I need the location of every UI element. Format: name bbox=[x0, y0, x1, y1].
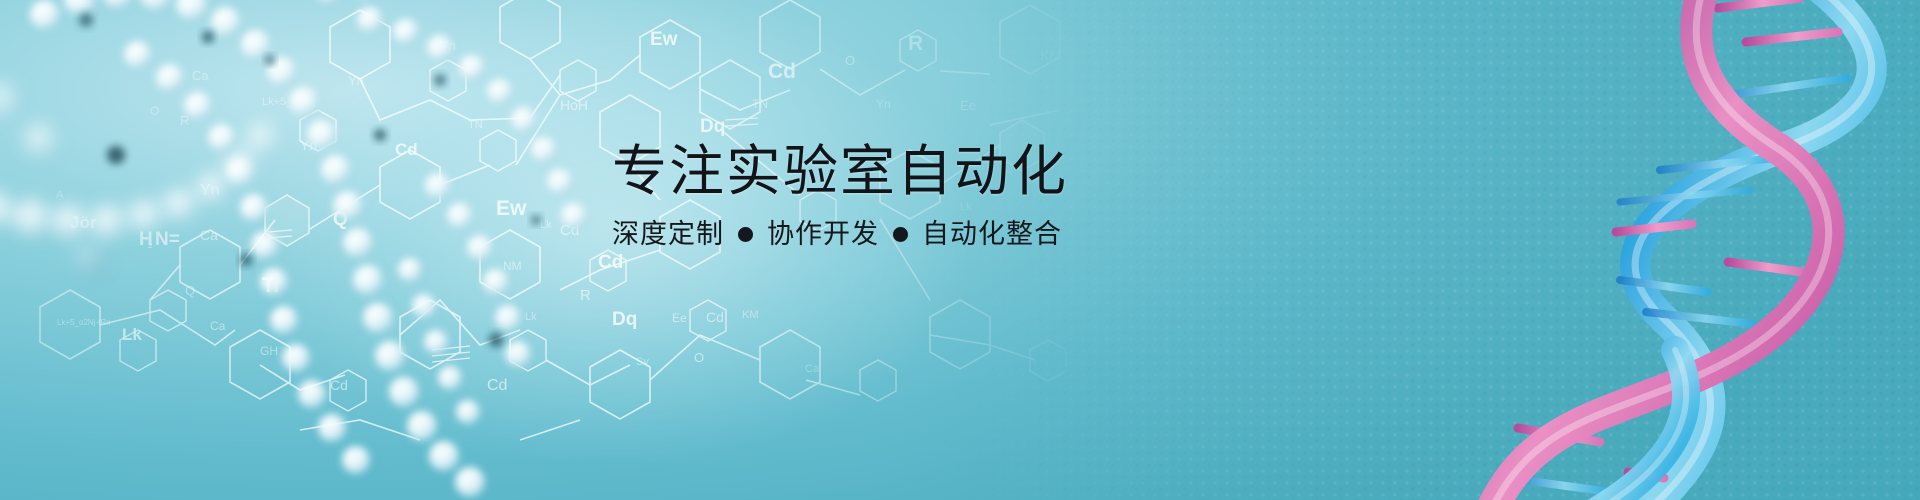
subtitle-item-2: 协作开发 bbox=[767, 218, 879, 250]
svg-text:Ca: Ca bbox=[805, 363, 820, 375]
svg-text:O: O bbox=[845, 53, 855, 68]
svg-text:R: R bbox=[908, 32, 923, 55]
bullet-separator-icon bbox=[893, 227, 908, 242]
svg-text:Yn: Yn bbox=[876, 97, 891, 111]
hero-banner: Ca Tr Jör H ₂ N= Lk+5_o2Nj-tRn Lk Ca Ca … bbox=[0, 0, 1920, 500]
bullet-separator-icon bbox=[738, 227, 753, 242]
pearlescent-dna-strand bbox=[0, 0, 700, 500]
svg-text:Ee: Ee bbox=[960, 98, 976, 113]
svg-text:Dq: Dq bbox=[700, 116, 725, 137]
hero-subtitle: 深度定制 协作开发 自动化整合 bbox=[612, 218, 1312, 250]
subtitle-item-3: 自动化整合 bbox=[922, 218, 1062, 250]
subtitle-item-1: 深度定制 bbox=[612, 218, 724, 250]
dna-double-helix bbox=[1460, 0, 1920, 500]
svg-text:KM: KM bbox=[1040, 47, 1061, 63]
svg-text:TN: TN bbox=[752, 97, 768, 111]
hero-text-block: 专注实验室自动化 深度定制 协作开发 自动化整合 bbox=[612, 142, 1312, 251]
svg-text:Cd: Cd bbox=[706, 309, 724, 325]
svg-text:Cd: Cd bbox=[768, 60, 796, 83]
page-title: 专注实验室自动化 bbox=[612, 142, 1312, 200]
svg-text:KM: KM bbox=[742, 309, 759, 321]
